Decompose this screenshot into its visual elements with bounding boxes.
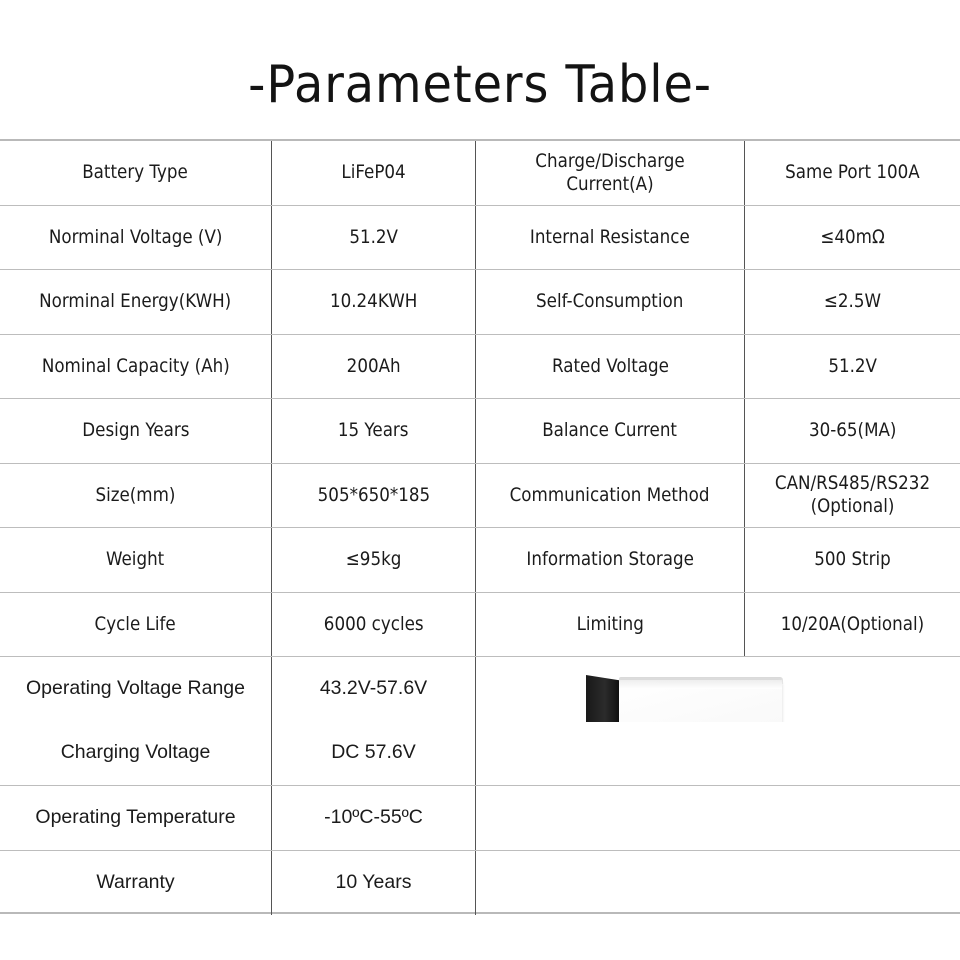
product-image-spacer [476,786,960,850]
spec-label: Cycle Life [0,593,272,657]
spec-label: Warranty [0,851,272,916]
spec-label: Nominal Capacity (Ah) [0,335,272,399]
table-row: Design Years 15 Years Balance Current 30… [0,399,960,464]
spec-value-2: 51.2V [745,335,960,399]
table-row: Weight ≤95kg Information Storage 500 Str… [0,528,960,593]
spec-value: 43.2V-57.6V [272,657,476,722]
spec-label-2: Balance Current [476,399,745,463]
spec-label-2: Internal Resistance [476,206,745,270]
spec-value: 10 Years [272,851,476,916]
spec-value: ≤95kg [272,528,476,592]
spec-value-2: ≤2.5W [745,270,960,334]
table-row: Size(mm) 505*650*185 Communication Metho… [0,464,960,529]
spec-label: Design Years [0,399,272,463]
spec-value: 505*650*185 [272,464,476,528]
table-row: Operating Voltage Range 43.2V-57.6V [0,657,960,722]
table-row: Cycle Life 6000 cycles Limiting 10/20A(O… [0,593,960,658]
table-row: Charging Voltage DC 57.6V [0,722,960,787]
spec-label: Norminal Voltage (V) [0,206,272,270]
spec-value: 15 Years [272,399,476,463]
table-row: Nominal Capacity (Ah) 200Ah Rated Voltag… [0,335,960,400]
product-image-spacer [476,722,960,786]
spec-label: Size(mm) [0,464,272,528]
spec-label-2: Self-Consumption [476,270,745,334]
spec-value: 6000 cycles [272,593,476,657]
spec-label-2: Information Storage [476,528,745,592]
parameters-table-page: -Parameters Table- Battery Type LiFeP04 … [0,0,960,960]
spec-label: Charging Voltage [0,722,272,786]
battery-side-panel [586,675,620,722]
spec-label: Norminal Energy(KWH) [0,270,272,334]
spec-value-2: Same Port 100A [745,141,960,205]
product-image-cell: ECO-2 10.24KWh 88.8 650mm 185mm 505mm [476,657,960,722]
spec-value-2: 30-65(MA) [745,399,960,463]
spec-value: 51.2V [272,206,476,270]
table-row: Norminal Voltage (V) 51.2V Internal Resi… [0,206,960,271]
spec-value: 10.24KWH [272,270,476,334]
product-image-spacer [476,851,960,916]
spec-label-2: Rated Voltage [476,335,745,399]
battery-top-face [619,680,782,689]
table-row: Battery Type LiFeP04 Charge/Discharge Cu… [0,141,960,206]
spec-value-2: ≤40mΩ [745,206,960,270]
spec-value: -10ºC-55ºC [272,786,476,850]
spec-label: Operating Voltage Range [0,657,272,722]
spec-label-2: Limiting [476,593,745,657]
spec-label-2: Charge/Discharge Current(A) [476,141,745,205]
spec-label: Operating Temperature [0,786,272,850]
page-title: -Parameters Table- [248,55,712,115]
specs-table: Battery Type LiFeP04 Charge/Discharge Cu… [0,139,960,914]
table-row: Operating Temperature -10ºC-55ºC [0,786,960,851]
product-illustration: ECO-2 10.24KWh 88.8 650mm 185mm 505mm [476,657,960,722]
page-title-wrap: -Parameters Table- [0,46,960,124]
spec-value-2: 10/20A(Optional) [745,593,960,657]
spec-value: LiFeP04 [272,141,476,205]
spec-value: DC 57.6V [272,722,476,786]
spec-label: Weight [0,528,272,592]
spec-label-2: Communication Method [476,464,745,528]
spec-value: 200Ah [272,335,476,399]
table-row: Warranty 10 Years [0,851,960,916]
table-row: Norminal Energy(KWH) 10.24KWH Self-Consu… [0,270,960,335]
spec-value-2: 500 Strip [745,528,960,592]
battery-unit: ECO-2 10.24KWh 88.8 [586,675,816,722]
spec-value-2: CAN/RS485/RS232 (Optional) [745,464,960,528]
spec-label: Battery Type [0,141,272,205]
